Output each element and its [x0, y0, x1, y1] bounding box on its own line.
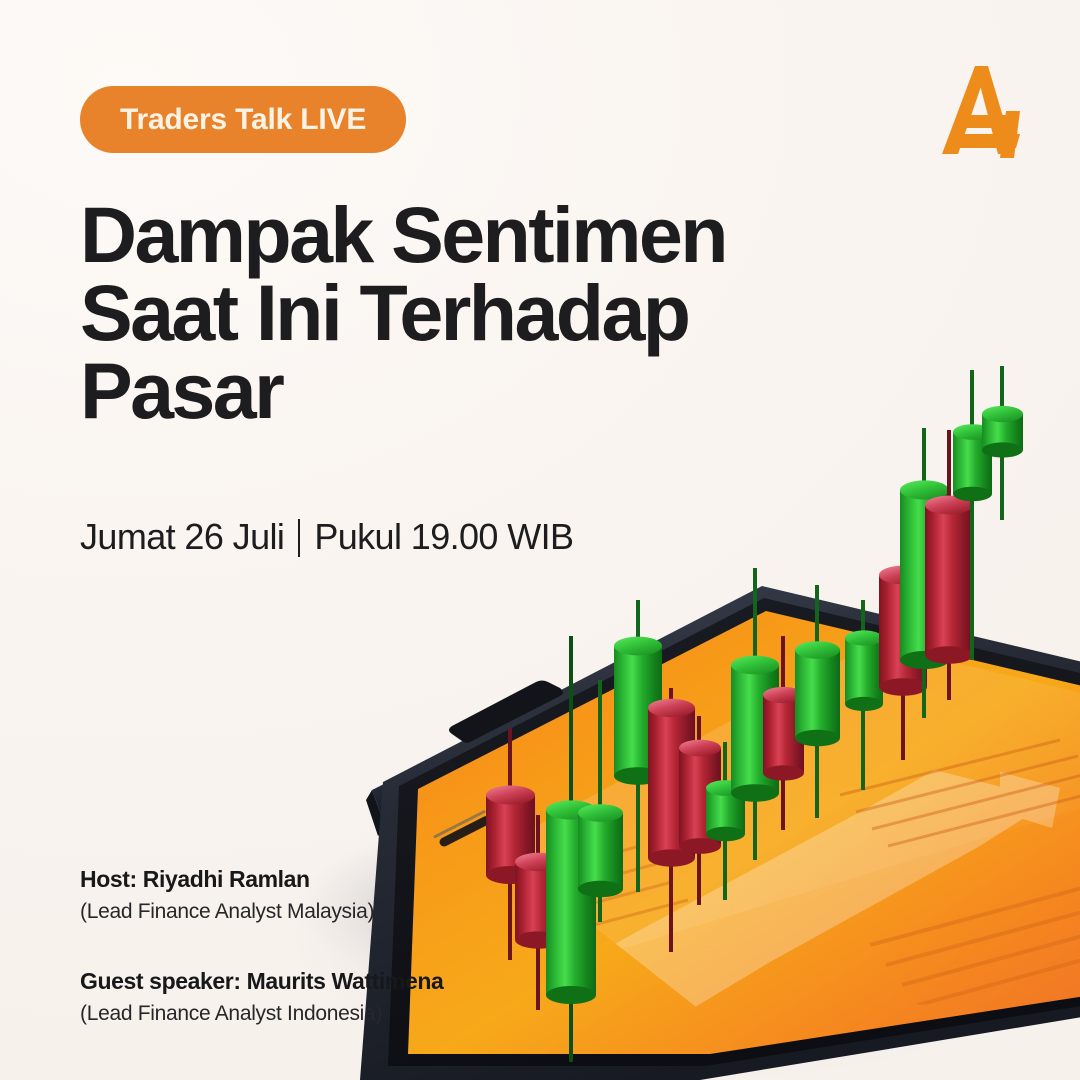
- headline-line-3: Pasar: [80, 352, 800, 430]
- phone-screen: [408, 611, 1080, 1054]
- candle-8-up: [706, 742, 745, 900]
- guest-block: Guest speaker: Maurits Wattimena (Lead F…: [80, 968, 443, 1026]
- host-role: (Lead Finance Analyst Malaysia): [80, 900, 443, 924]
- candle-14-up: [900, 428, 949, 718]
- live-badge[interactable]: Traders Talk LIVE: [80, 86, 406, 153]
- event-time: Pukul 19.00 WIB: [314, 516, 573, 558]
- candle-7-down: [679, 716, 721, 905]
- candle-3-up: [546, 636, 596, 1062]
- brand-a-logo-icon: [928, 62, 1032, 158]
- event-date: Jumat 26 Juli: [80, 516, 284, 558]
- candle-16-up: [953, 370, 992, 660]
- upward-arrow-icon: [560, 770, 1060, 1010]
- headline-line-1: Dampak Sentimen: [80, 196, 800, 274]
- candle-17-up: [982, 366, 1023, 520]
- phone-side-button: [438, 815, 492, 848]
- phone-body: [360, 586, 1080, 1080]
- candlestick-series: [486, 366, 1023, 1062]
- candle-15-down: [925, 430, 973, 700]
- guest-name: Guest speaker: Maurits Wattimena: [80, 968, 443, 995]
- host-block: Host: Riyadhi Ramlan (Lead Finance Analy…: [80, 866, 443, 924]
- candle-9-up: [731, 568, 779, 860]
- phone-notch: [449, 681, 563, 743]
- candle-10-down: [763, 636, 804, 830]
- candle-13-down: [879, 523, 927, 760]
- smartphone-graphic: [360, 586, 1080, 1080]
- live-badge-label: Traders Talk LIVE: [120, 103, 366, 137]
- host-name: Host: Riyadhi Ramlan: [80, 866, 443, 893]
- candle-12-up: [845, 600, 883, 790]
- phone-bezel: [388, 598, 1080, 1066]
- candle-6-down: [648, 688, 695, 952]
- page-title: Dampak Sentimen Saat Ini Terhadap Pasar: [80, 196, 800, 431]
- headline-line-2: Saat Ini Terhadap: [80, 274, 800, 352]
- screen-chart-graphic: [400, 640, 1080, 1010]
- schedule-separator: [298, 519, 300, 557]
- candle-4-up: [578, 680, 623, 922]
- phone-side: [372, 594, 1080, 828]
- guest-role: (Lead Finance Analyst Indonesia): [80, 1002, 443, 1026]
- event-schedule: Jumat 26 Juli Pukul 19.00 WIB: [80, 516, 573, 558]
- candle-1-down: [486, 728, 535, 960]
- candle-2-down: [515, 815, 562, 1010]
- speaker-list: Host: Riyadhi Ramlan (Lead Finance Analy…: [80, 866, 443, 1026]
- candle-11-up: [795, 585, 840, 818]
- candle-5-up: [614, 600, 662, 892]
- promo-poster: Traders Talk LIVE Dampak Sentimen Saat I…: [0, 0, 1080, 1080]
